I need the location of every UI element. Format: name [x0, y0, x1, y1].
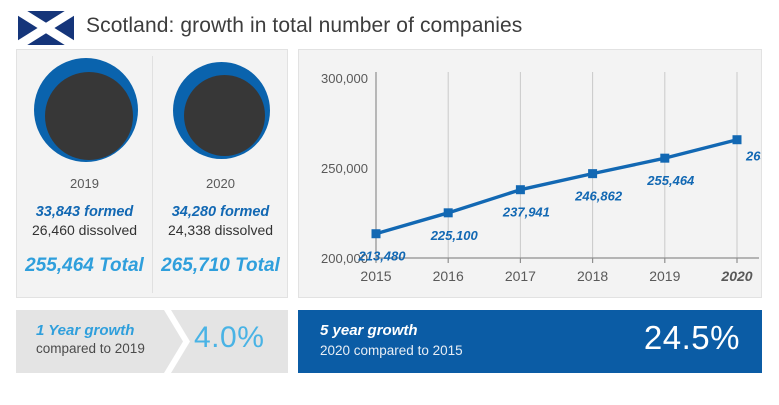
- bubble-inner-circle-icon: [184, 75, 265, 156]
- companies-formed: 34,280 formed: [153, 204, 288, 220]
- chart-data-point: [733, 135, 742, 144]
- chart-y-tick-label: 300,000: [321, 71, 368, 86]
- chart-data-label: 213,480: [358, 249, 407, 264]
- chart-data-label: 237,941: [502, 205, 550, 220]
- chart-area: 200,000250,000300,0002015201620172018201…: [299, 50, 761, 297]
- chart-data-point: [444, 208, 453, 217]
- line-chart: 200,000250,000300,0002015201620172018201…: [299, 50, 761, 297]
- one-year-growth-value: 4.0%: [194, 321, 264, 355]
- companies-formed: 33,843 formed: [17, 204, 152, 220]
- chart-data-point: [660, 154, 669, 163]
- bubble-chart-2020: [165, 50, 277, 170]
- chart-data-point: [588, 169, 597, 178]
- chart-x-tick-label: 2017: [505, 268, 536, 284]
- infographic-root: Scotland: growth in total number of comp…: [0, 0, 779, 405]
- one-year-growth-panel: 1 Year growth compared to 2019 4.0%: [16, 310, 288, 373]
- companies-total: 265,710 Total: [153, 255, 288, 277]
- five-year-growth-panel: 5 year growth 2020 compared to 2015 24.5…: [298, 310, 762, 373]
- chart-data-label: 265,710: [745, 149, 761, 164]
- chart-x-tick-label: 2019: [649, 268, 680, 284]
- five-year-growth-subtitle: 2020 compared to 2015: [320, 343, 463, 358]
- chart-x-tick-label: 2018: [577, 268, 608, 284]
- chart-data-label: 255,464: [646, 173, 695, 188]
- one-year-growth-title: 1 Year growth: [36, 322, 176, 339]
- chart-data-point: [372, 229, 381, 238]
- growth-line-chart-card: 200,000250,000300,0002015201620172018201…: [298, 49, 762, 298]
- year-column-2020: 2020 34,280 formed 24,338 dissolved 265,…: [153, 50, 288, 297]
- chart-y-tick-label: 250,000: [321, 161, 368, 176]
- header: Scotland: growth in total number of comp…: [0, 0, 779, 46]
- five-year-growth-title: 5 year growth: [320, 322, 418, 339]
- five-year-growth-value: 24.5%: [644, 319, 740, 357]
- chart-x-tick-label: 2020: [720, 268, 752, 284]
- chart-data-point: [516, 185, 525, 194]
- page-title: Scotland: growth in total number of comp…: [86, 9, 522, 43]
- year-column-2019: 2019 33,843 formed 26,460 dissolved 255,…: [17, 50, 152, 297]
- company-formation-card: 2019 33,843 formed 26,460 dissolved 255,…: [16, 49, 288, 298]
- bubble-chart-2019: [29, 50, 141, 170]
- companies-total: 255,464 Total: [17, 255, 152, 277]
- year-label: 2019: [17, 176, 152, 191]
- scotland-saltire-flag-icon: [16, 9, 76, 47]
- one-year-growth-subtitle: compared to 2019: [36, 341, 176, 356]
- companies-dissolved: 24,338 dissolved: [153, 222, 288, 238]
- chart-data-label: 225,100: [430, 228, 479, 243]
- one-year-growth-label: 1 Year growth compared to 2019: [36, 322, 176, 356]
- bubble-inner-circle-icon: [45, 72, 133, 160]
- year-label: 2020: [153, 176, 288, 191]
- companies-dissolved: 26,460 dissolved: [17, 222, 152, 238]
- chart-x-tick-label: 2015: [360, 268, 391, 284]
- chart-data-label: 246,862: [574, 189, 623, 204]
- chevron-right-icon: [164, 310, 190, 373]
- chart-x-tick-label: 2016: [433, 268, 464, 284]
